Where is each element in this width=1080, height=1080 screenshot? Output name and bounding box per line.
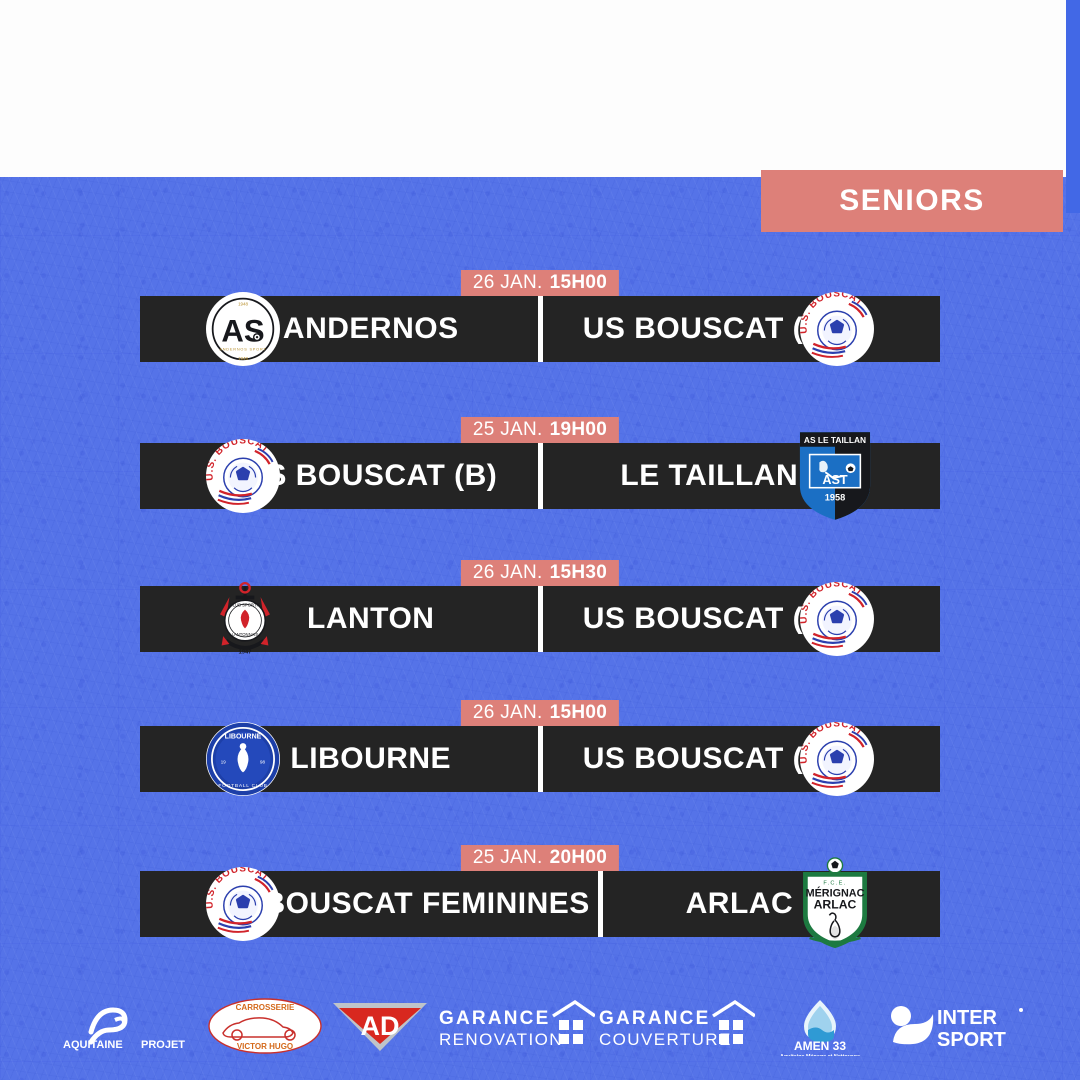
away-team-crest: AST AS LE TAILLAN 1958 <box>796 429 874 523</box>
header-banner <box>0 0 1080 177</box>
match-datetime-badge: 26 JAN.15H30 <box>461 560 619 586</box>
svg-text:GARANCE: GARANCE <box>599 1008 710 1029</box>
home-team-name: US BOUSCAT (B) <box>140 443 538 509</box>
svg-text:AS LE TAILLAN: AS LE TAILLAN <box>804 435 866 445</box>
sponsor-bar: AQUITAINE PROJET CARROSSERIE VICTOR HUGO… <box>0 994 1080 1058</box>
merignac-arlac-crest: F.C.E. MÉRIGNAC ARLAC <box>796 857 874 951</box>
match-row: LIBOURNEUS BOUSCAT (D)26 JAN.15H00 LIBOU… <box>0 700 1080 820</box>
match-time: 15H30 <box>550 562 608 584</box>
home-team-crest: U.S. BOUSCAT <box>206 439 280 513</box>
svg-text:98: 98 <box>260 759 265 764</box>
svg-text:AD: AD <box>361 1011 400 1041</box>
as-le-taillan-crest: AST AS LE TAILLAN 1958 <box>796 429 874 523</box>
svg-text:CLUB SPORTIF: CLUB SPORTIF <box>230 603 261 608</box>
match-row: US BOUSCAT (B)LE TAILLAN25 JAN.19H00 U.S… <box>0 417 1080 537</box>
home-team-crest: LIBOURNE FOOTBALL CLUB 19 98 <box>206 722 280 796</box>
home-team-crest: AS ANDERNOS SPORT 1948 1948 <box>206 292 280 366</box>
svg-text:GARANCE: GARANCE <box>439 1008 550 1029</box>
home-team-name: LIBOURNE <box>140 726 538 792</box>
svg-text:PROJET: PROJET <box>141 1039 185 1051</box>
libourne-fc-crest: LIBOURNE FOOTBALL CLUB 19 98 <box>206 722 280 796</box>
home-team-crest: CLUB SPORTIF LANTONNAIS 1947 <box>206 572 284 666</box>
svg-text:F.C.E.: F.C.E. <box>823 880 846 886</box>
header-right-rule <box>1066 0 1080 213</box>
svg-text:ARLAC: ARLAC <box>814 898 857 912</box>
svg-text:SPORT: SPORT <box>937 1029 1006 1051</box>
match-date: 25 JAN. <box>473 419 543 441</box>
svg-text:ANDERNOS SPORT: ANDERNOS SPORT <box>219 347 266 351</box>
svg-text:VICTOR HUGO: VICTOR HUGO <box>237 1042 293 1051</box>
match-time: 15H00 <box>550 272 608 294</box>
category-badge: SENIORS <box>761 170 1063 232</box>
svg-text:RENOVATION: RENOVATION <box>439 1030 563 1049</box>
match-row: US BOUSCAT FEMININESARLAC25 JAN.20H00 U.… <box>0 845 1080 965</box>
away-team-crest: U.S. BOUSCAT <box>800 722 874 796</box>
sponsor-logo-intersport: INTER SPORT <box>885 996 1025 1056</box>
match-row: ANDERNOSUS BOUSCAT (A)26 JAN.15H00 AS AN… <box>0 270 1080 390</box>
away-team-crest: F.C.E. MÉRIGNAC ARLAC <box>796 857 874 951</box>
svg-text:INTER: INTER <box>937 1007 998 1029</box>
andernos-as-crest: AS ANDERNOS SPORT 1948 1948 <box>206 292 280 366</box>
us-bouscat-crest: U.S. BOUSCAT <box>206 867 280 941</box>
match-row: LANTONUS BOUSCAT (C)26 JAN.15H30 CLUB SP… <box>0 560 1080 680</box>
match-datetime-badge: 25 JAN.20H00 <box>461 845 619 871</box>
match-date: 26 JAN. <box>473 272 543 294</box>
svg-text:LANTONNAIS: LANTONNAIS <box>232 632 259 637</box>
us-bouscat-crest: U.S. BOUSCAT <box>206 439 280 513</box>
match-datetime-badge: 26 JAN.15H00 <box>461 700 619 726</box>
svg-text:CARROSSERIE: CARROSSERIE <box>236 1003 295 1012</box>
svg-text:1948: 1948 <box>238 301 248 306</box>
away-team-crest: U.S. BOUSCAT <box>800 582 874 656</box>
match-date: 26 JAN. <box>473 702 543 724</box>
home-team-crest: U.S. BOUSCAT <box>206 867 280 941</box>
sponsor-logo-garance-couverture: GARANCE COUVERTURE <box>595 996 755 1056</box>
svg-text:AMEN 33: AMEN 33 <box>794 1039 846 1053</box>
svg-text:AST: AST <box>822 473 848 487</box>
us-bouscat-crest: U.S. BOUSCAT <box>800 292 874 366</box>
sponsor-logo-amen-33: AMEN 33 Aquitaine Ménage et Nettoyage <box>755 996 885 1056</box>
away-team-crest: U.S. BOUSCAT <box>800 292 874 366</box>
svg-text:Aquitaine Ménage et Nettoyage: Aquitaine Ménage et Nettoyage <box>780 1054 860 1056</box>
svg-text:COUVERTURE: COUVERTURE <box>599 1030 732 1049</box>
sponsor-logo-ad: AD <box>325 996 435 1056</box>
svg-text:19: 19 <box>221 759 226 764</box>
home-team-name: ANDERNOS <box>140 296 538 362</box>
match-time: 19H00 <box>550 419 608 441</box>
away-team-name: ARLAC <box>603 871 940 937</box>
sponsor-logo-carrosserie-victor-hugo: CARROSSERIE VICTOR HUGO <box>205 996 325 1056</box>
us-bouscat-crest: U.S. BOUSCAT <box>800 582 874 656</box>
match-date: 26 JAN. <box>473 562 543 584</box>
svg-text:LIBOURNE: LIBOURNE <box>225 733 262 740</box>
sponsor-logo-aquitaine-projet: AQUITAINE PROJET <box>55 996 205 1056</box>
home-team-name: LANTON <box>140 586 538 652</box>
away-team-name: LE TAILLAN <box>543 443 941 509</box>
match-datetime-badge: 26 JAN.15H00 <box>461 270 619 296</box>
away-team-name: US BOUSCAT (C) <box>543 586 941 652</box>
svg-text:1948: 1948 <box>238 356 248 361</box>
match-datetime-badge: 25 JAN.19H00 <box>461 417 619 443</box>
svg-text:1958: 1958 <box>825 492 846 502</box>
lanton-anchor-crest: CLUB SPORTIF LANTONNAIS 1947 <box>206 572 284 666</box>
match-date: 25 JAN. <box>473 847 543 869</box>
svg-text:FOOTBALL CLUB: FOOTBALL CLUB <box>218 783 267 789</box>
us-bouscat-crest: U.S. BOUSCAT <box>800 722 874 796</box>
away-team-name: US BOUSCAT (A) <box>543 296 941 362</box>
match-time: 15H00 <box>550 702 608 724</box>
svg-text:AQUITAINE: AQUITAINE <box>63 1039 123 1051</box>
svg-text:1947: 1947 <box>238 649 251 655</box>
sponsor-logo-garance-renovation: GARANCE RENOVATION <box>435 996 595 1056</box>
svg-text:AS: AS <box>221 314 264 349</box>
match-time: 20H00 <box>550 847 608 869</box>
away-team-name: US BOUSCAT (D) <box>543 726 941 792</box>
